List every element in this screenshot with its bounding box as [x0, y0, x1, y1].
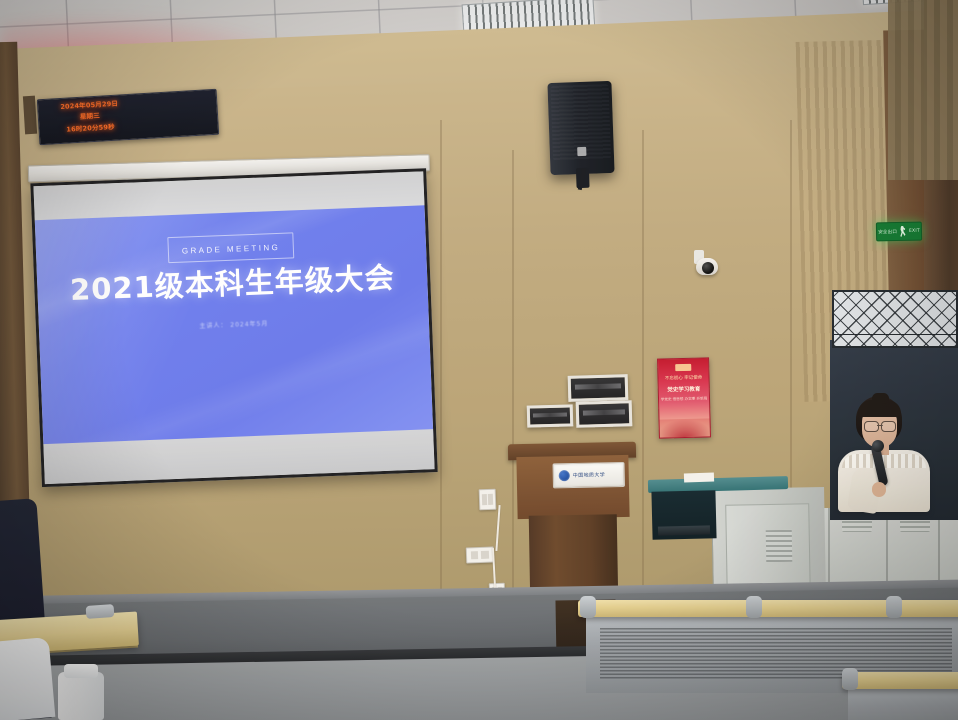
exit-label-cn: 安全出口	[878, 229, 897, 235]
console-vent	[766, 530, 793, 562]
window-curtain	[888, 0, 958, 180]
university-emblem-icon	[559, 470, 570, 481]
console-paper	[684, 472, 714, 482]
exit-label-en: EXIT	[909, 229, 920, 234]
screen-glare	[35, 205, 434, 450]
eyeglasses-icon	[864, 421, 896, 430]
foreground-attendee-sleeve	[0, 637, 55, 720]
wall-seam	[642, 130, 644, 610]
presenter-hand	[872, 482, 886, 497]
water-bottle[interactable]	[58, 672, 104, 720]
wall-panel-3	[576, 400, 633, 428]
wall-loudspeaker	[547, 81, 614, 175]
water-bottle-cap[interactable]	[64, 664, 98, 678]
red-propaganda-poster: 不忘初心 牢记使命 党史学习教育 学党史 悟思想 办实事 开新局	[657, 357, 711, 438]
screen-surface: GRADE MEETING 2021级本科生年级大会 主讲人： 2024年5月	[30, 168, 437, 487]
speaker-brand-logo	[577, 147, 586, 156]
podium-name-plate: 中国地质大学	[553, 462, 626, 489]
console-device	[658, 525, 710, 535]
wall-panel-1	[568, 374, 629, 402]
desk-clip	[86, 604, 115, 619]
poster-line-2: 党史学习教育	[667, 385, 700, 394]
wall-panel-2	[527, 404, 574, 427]
podium-front-face: 中国地质大学	[516, 455, 629, 519]
lecture-hall-photo: 2024年05月29日 星期三 16时20分59秒 GRADE MEETING …	[0, 0, 958, 720]
running-man-icon	[899, 226, 907, 237]
presenter-hair-bun	[872, 393, 889, 404]
poster-line-3: 学党史 悟思想 办实事 开新局	[661, 395, 708, 402]
av-control-console	[648, 478, 788, 598]
poster-badge-icon	[675, 364, 691, 371]
wall-seam	[790, 120, 792, 520]
projection-screen: GRADE MEETING 2021级本科生年级大会 主讲人： 2024年5月	[10, 154, 442, 500]
camera-lens	[702, 262, 714, 274]
lattice-window	[832, 290, 958, 348]
poster-graphic	[657, 418, 711, 438]
poster-line-1: 不忘初心 牢记使命	[665, 375, 703, 382]
wall-seam	[440, 120, 442, 600]
emergency-exit-sign: 安全出口 EXIT	[876, 222, 922, 242]
wall-switch-middle[interactable]	[466, 547, 495, 564]
presenter-at-podium	[828, 396, 938, 506]
led-sign-bracket	[23, 96, 37, 135]
wall-switch-upper[interactable]	[479, 489, 497, 511]
podium-plate-text: 中国地质大学	[573, 471, 606, 479]
